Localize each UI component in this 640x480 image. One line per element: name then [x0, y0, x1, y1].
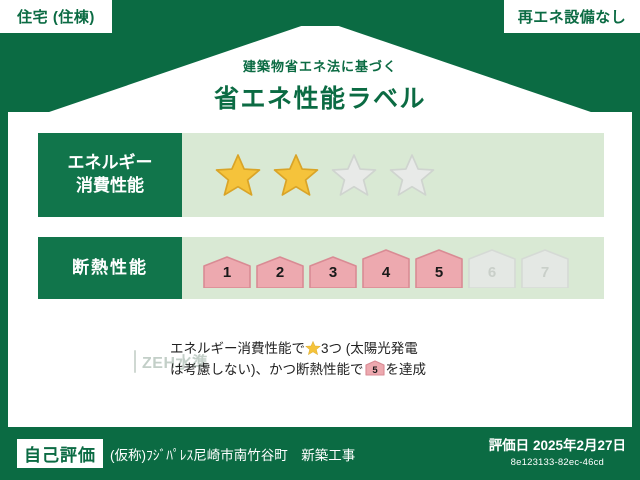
inline-house-shape-icon: 5	[365, 360, 385, 376]
inline-grade-badge: 5	[365, 360, 385, 383]
star-empty-icon	[330, 152, 378, 198]
grade-scale: 1234567	[182, 248, 570, 288]
star-filled-icon	[214, 152, 262, 198]
title-main: 省エネ性能ラベル	[0, 79, 640, 115]
zeh-note-line1-a: エネルギー消費性能で	[170, 341, 305, 356]
inline-star-icon	[305, 340, 321, 356]
grade-marker: 4	[361, 248, 411, 288]
svg-text:5: 5	[372, 365, 378, 376]
grade-marker: 6	[467, 248, 517, 288]
footer-meta: 評価日 2025年2月27日 8e123133-82ec-46cd	[489, 438, 626, 469]
page-title: 建築物省エネ法に基づく 省エネ性能ラベル	[0, 56, 640, 115]
grade-marker-label: 3	[308, 264, 358, 281]
energy-performance-label: 住宅 (住棟) 再エネ設備なし 建築物省エネ法に基づく 省エネ性能ラベル エネル…	[0, 0, 640, 480]
zeh-note-line2-b: を達成	[386, 362, 427, 377]
grade-marker: 7	[520, 248, 570, 288]
evaluation-date: 評価日 2025年2月27日	[489, 438, 626, 455]
tag-building-type: 住宅 (住棟)	[0, 0, 112, 33]
row-insulation-performance: 断熱性能 1234567	[38, 237, 604, 299]
row-energy-label-line1: エネルギー	[68, 152, 153, 175]
zeh-badge: ZEH水準	[38, 349, 150, 373]
footer-bar: 自己評価 (仮称)ﾌｼﾞﾊﾟﾚｽ尼崎市南竹谷町 新築工事 評価日 2025年2月…	[0, 427, 640, 480]
row-insulation-value: 1234567	[182, 248, 604, 288]
star-filled-icon	[272, 152, 320, 198]
grade-marker-label: 4	[361, 264, 411, 281]
grade-marker: 5	[414, 248, 464, 288]
row-insulation-label-line1: 断熱性能	[72, 257, 148, 280]
zeh-note: ZEH水準 エネルギー消費性能で3つ (太陽光発電 は考慮しない)、かつ断熱性能…	[38, 333, 604, 389]
row-energy-performance: エネルギー 消費性能	[38, 133, 604, 217]
grade-marker-label: 1	[202, 264, 252, 281]
zeh-note-line2-a: は考慮しない)、かつ断熱性能で	[170, 362, 364, 377]
title-subtitle: 建築物省エネ法に基づく	[0, 56, 640, 75]
grade-marker: 3	[308, 255, 358, 288]
star-rating	[182, 152, 436, 198]
grade-marker-label: 5	[414, 264, 464, 281]
zeh-note-text: エネルギー消費性能で3つ (太陽光発電 は考慮しない)、かつ断熱性能で5を達成	[170, 339, 426, 383]
grade-marker: 1	[202, 255, 252, 288]
zeh-note-line1: エネルギー消費性能で3つ (太陽光発電	[170, 339, 426, 360]
self-evaluation-badge: 自己評価	[17, 439, 103, 468]
grade-marker-label: 6	[467, 264, 517, 281]
grade-marker: 2	[255, 255, 305, 288]
row-insulation-label: 断熱性能	[38, 237, 182, 299]
row-energy-value	[182, 152, 604, 198]
row-energy-label-line2: 消費性能	[76, 175, 144, 198]
tag-renewable-energy: 再エネ設備なし	[504, 0, 640, 33]
zeh-chart-icon	[134, 350, 136, 373]
grade-marker-label: 2	[255, 264, 305, 281]
grade-marker-label: 7	[520, 264, 570, 281]
row-energy-label: エネルギー 消費性能	[38, 133, 182, 217]
evaluation-id: 8e123133-82ec-46cd	[489, 457, 626, 469]
building-name: (仮称)ﾌｼﾞﾊﾟﾚｽ尼崎市南竹谷町 新築工事	[110, 444, 355, 464]
zeh-note-line2: は考慮しない)、かつ断熱性能で5を達成	[170, 360, 426, 383]
zeh-note-line1-b: 3つ (太陽光発電	[321, 341, 418, 356]
star-empty-icon	[388, 152, 436, 198]
